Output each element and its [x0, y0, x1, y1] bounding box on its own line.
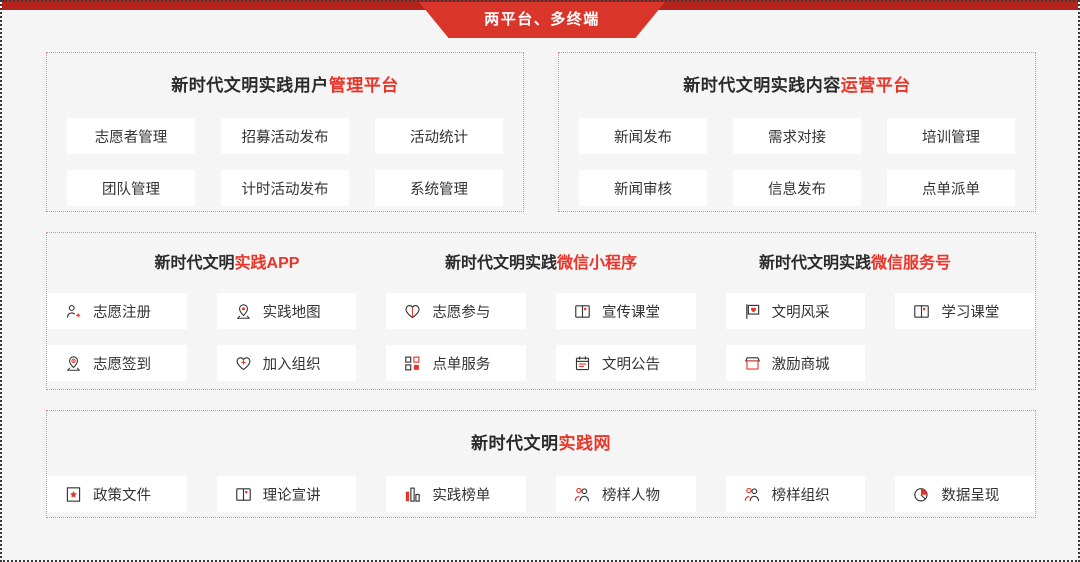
document-star-icon [65, 486, 82, 503]
button-civilization-announcement[interactable]: 文明公告 [556, 345, 696, 381]
button-label: 学习课堂 [941, 301, 999, 322]
pie-chart-icon [913, 486, 930, 503]
map-pin-icon [235, 303, 252, 320]
button-label: 加入组织 [263, 353, 321, 374]
button-order-service[interactable]: 点单服务 [386, 345, 526, 381]
button-volunteer-management[interactable]: 志愿者管理 [67, 118, 195, 154]
button-label: 文明公告 [602, 353, 660, 374]
button-timed-activity-publish[interactable]: 计时活动发布 [221, 170, 349, 206]
button-label: 数据呈现 [941, 484, 999, 505]
spacer [865, 345, 895, 381]
panel-title-highlight: 管理平台 [329, 76, 399, 95]
button-label: 榜样组织 [772, 484, 830, 505]
flag-heart-icon [744, 303, 761, 320]
button-propaganda-classroom[interactable]: 宣传课堂 [556, 293, 696, 329]
spacer [696, 476, 726, 512]
panel-title-user-management: 新时代文明实践用户管理平台 [47, 71, 523, 96]
panel-title-highlight: 实践网 [559, 434, 612, 453]
panel-title-plain: 新时代文明实践内容 [683, 76, 841, 95]
spacer [356, 293, 386, 329]
panel-title-practice-website: 新时代文明实践网 [47, 429, 1035, 454]
spacer [195, 170, 221, 206]
heart-icon [404, 303, 421, 320]
spacer [865, 293, 895, 329]
button-news-publish[interactable]: 新闻发布 [579, 118, 707, 154]
panel-content-operation: 新时代文明实践内容运营平台 新闻发布 需求对接 培训管理 新闻审核 信息发布 点… [558, 52, 1036, 212]
button-label: 文明风采 [772, 301, 830, 322]
group-title-plain: 新时代文明 [155, 255, 235, 272]
panel-title-plain: 新时代文明 [471, 434, 559, 453]
button-label: 实践地图 [263, 301, 321, 322]
spacer [187, 476, 217, 512]
infographic-root: 两平台、多终端 新时代文明实践用户管理平台 志愿者管理 招募活动发布 活动统计 … [0, 0, 1080, 562]
spacer [526, 345, 556, 381]
button-label: 点单服务 [432, 353, 490, 374]
banner-tab: 两平台、多终端 [419, 2, 665, 38]
button-row: 志愿者管理 招募活动发布 活动统计 [47, 118, 523, 154]
group-title-miniprogram: 新时代文明实践微信小程序 [384, 249, 698, 273]
button-role-model-person[interactable]: 榜样人物 [556, 476, 696, 512]
button-volunteer-register[interactable]: 志愿注册 [47, 293, 187, 329]
group-title-service-account: 新时代文明实践微信服务号 [698, 249, 1012, 273]
button-placeholder [895, 345, 1035, 381]
button-row: 团队管理 计时活动发布 系统管理 [47, 170, 523, 206]
bar-chart-icon [404, 486, 421, 503]
button-row: 新闻审核 信息发布 点单派单 [559, 170, 1035, 206]
grid-blocks-icon [404, 355, 421, 372]
button-order-dispatch[interactable]: 点单派单 [887, 170, 1015, 206]
open-book-icon [913, 303, 930, 320]
panel-title-plain: 新时代文明实践用户 [171, 76, 329, 95]
spacer [707, 170, 733, 206]
button-role-model-organization[interactable]: 榜样组织 [726, 476, 866, 512]
button-incentive-mall[interactable]: 激励商城 [726, 345, 866, 381]
spacer [195, 118, 221, 154]
button-label: 实践榜单 [432, 484, 490, 505]
button-join-organization[interactable]: 加入组织 [217, 345, 357, 381]
shop-icon [744, 355, 761, 372]
spacer [526, 293, 556, 329]
panel-mobile-terminals: 新时代文明实践APP 新时代文明实践微信小程序 新时代文明实践微信服务号 志愿注… [46, 232, 1036, 390]
button-activity-statistics[interactable]: 活动统计 [375, 118, 503, 154]
button-row: 新闻发布 需求对接 培训管理 [559, 118, 1035, 154]
button-policy-documents[interactable]: 政策文件 [47, 476, 187, 512]
panel-title-highlight: 运营平台 [841, 76, 911, 95]
button-demand-matching[interactable]: 需求对接 [733, 118, 861, 154]
open-book-icon [574, 303, 591, 320]
two-people-icon [574, 486, 591, 503]
button-theory-lecture[interactable]: 理论宣讲 [217, 476, 357, 512]
open-book-icon [235, 486, 252, 503]
group-title-highlight: 微信服务号 [871, 255, 951, 272]
button-practice-ranking[interactable]: 实践榜单 [386, 476, 526, 512]
spacer [861, 118, 887, 154]
two-people-icon [744, 486, 761, 503]
button-practice-map[interactable]: 实践地图 [217, 293, 357, 329]
button-label: 宣传课堂 [602, 301, 660, 322]
button-information-publish[interactable]: 信息发布 [733, 170, 861, 206]
panel-title-content-operation: 新时代文明实践内容运营平台 [559, 71, 1035, 96]
button-news-review[interactable]: 新闻审核 [579, 170, 707, 206]
button-volunteer-checkin[interactable]: 志愿签到 [47, 345, 187, 381]
button-study-classroom[interactable]: 学习课堂 [895, 293, 1035, 329]
button-team-management[interactable]: 团队管理 [67, 170, 195, 206]
button-label: 志愿参与 [432, 301, 490, 322]
spacer [861, 170, 887, 206]
button-data-presentation[interactable]: 数据呈现 [895, 476, 1035, 512]
spacer [349, 118, 375, 154]
spacer [696, 293, 726, 329]
spacer [356, 476, 386, 512]
calendar-note-icon [574, 355, 591, 372]
person-add-icon [65, 303, 82, 320]
group-title-plain: 新时代文明实践 [759, 255, 871, 272]
group-title-plain: 新时代文明实践 [445, 255, 557, 272]
top-banner: 两平台、多终端 [2, 0, 1080, 38]
group-title-app: 新时代文明实践APP [70, 249, 384, 273]
icon-button-row: 政策文件 理论宣讲 实践榜单 榜样人物 [47, 476, 1035, 512]
spacer [696, 345, 726, 381]
panel-user-management: 新时代文明实践用户管理平台 志愿者管理 招募活动发布 活动统计 团队管理 计时活… [46, 52, 524, 212]
button-label: 志愿注册 [93, 301, 151, 322]
button-training-management[interactable]: 培训管理 [887, 118, 1015, 154]
banner-title: 两平台、多终端 [484, 8, 600, 29]
spacer [349, 170, 375, 206]
spacer [187, 293, 217, 329]
spacer [356, 345, 386, 381]
spacer [526, 476, 556, 512]
button-volunteer-participate[interactable]: 志愿参与 [386, 293, 526, 329]
location-check-icon [65, 355, 82, 372]
group-title-highlight: 微信小程序 [557, 255, 637, 272]
icon-button-row: 志愿签到 加入组织 点单服务 文明公告 [47, 345, 1035, 381]
button-system-management[interactable]: 系统管理 [375, 170, 503, 206]
button-civilization-style[interactable]: 文明风采 [726, 293, 866, 329]
panel-practice-website: 新时代文明实践网 政策文件 理论宣讲 实践榜单 [46, 410, 1036, 518]
group-title-row: 新时代文明实践APP 新时代文明实践微信小程序 新时代文明实践微信服务号 [47, 249, 1035, 273]
button-recruit-activity-publish[interactable]: 招募活动发布 [221, 118, 349, 154]
spacer [707, 118, 733, 154]
spacer [865, 476, 895, 512]
button-label: 激励商城 [772, 353, 830, 374]
spacer [187, 345, 217, 381]
button-label: 志愿签到 [93, 353, 151, 374]
button-label: 理论宣讲 [263, 484, 321, 505]
button-label: 榜样人物 [602, 484, 660, 505]
heart-plus-icon [235, 355, 252, 372]
icon-button-row: 志愿注册 实践地图 志愿参与 宣传课堂 [47, 293, 1035, 329]
group-title-highlight: 实践APP [235, 255, 300, 272]
button-label: 政策文件 [93, 484, 151, 505]
